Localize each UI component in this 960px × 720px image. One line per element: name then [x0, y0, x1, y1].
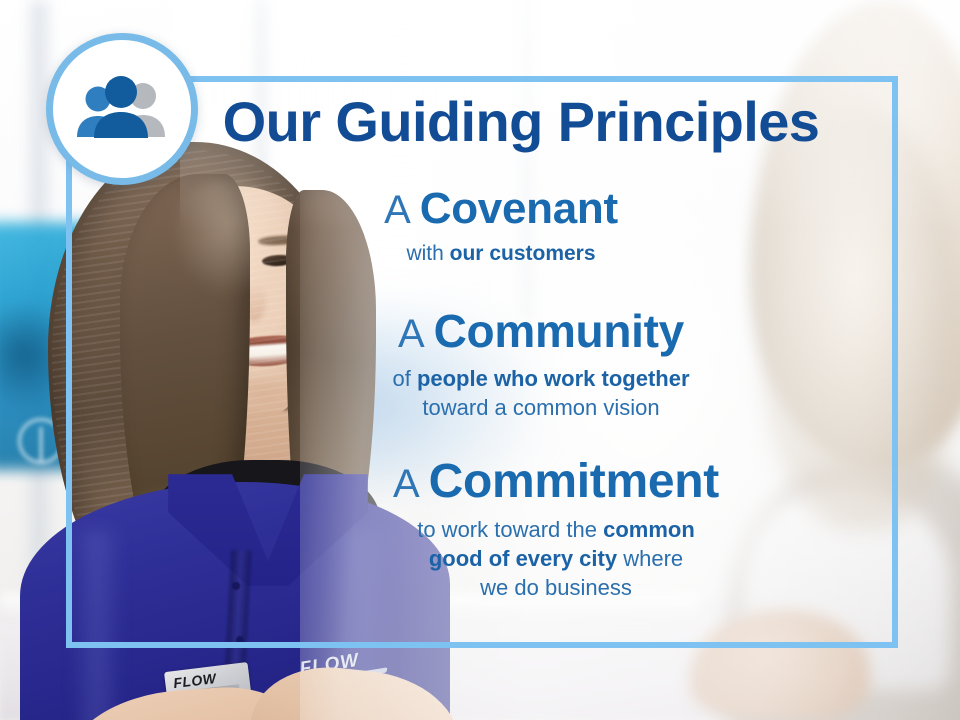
principle-community-word: Community [434, 305, 684, 357]
banner-canvas: FLOW FLOW [0, 0, 960, 720]
principle-covenant-word: Covenant [420, 184, 618, 233]
principle-community-article: A [398, 312, 434, 356]
principle-community: A Community of people who work togethert… [66, 304, 866, 422]
principle-commitment: A Commitment to work toward the commongo… [66, 454, 866, 602]
principle-covenant: A Covenant with our customers [66, 184, 866, 268]
principle-commitment-word: Commitment [429, 455, 719, 508]
principle-commitment-subtext: to work toward the commongood of every c… [246, 515, 866, 602]
principles-content: Our Guiding Principles A Covenant with o… [66, 76, 898, 648]
page-title: Our Guiding Principles [66, 94, 886, 150]
principle-community-subtext: of people who work togethertoward a comm… [216, 364, 866, 422]
principle-covenant-subtext: with our customers [136, 240, 866, 268]
principle-community-heading: A Community [216, 304, 866, 358]
principle-covenant-article: A [384, 188, 420, 232]
principle-commitment-heading: A Commitment [246, 454, 866, 509]
principle-covenant-heading: A Covenant [136, 184, 866, 234]
principle-commitment-article: A [393, 462, 429, 506]
